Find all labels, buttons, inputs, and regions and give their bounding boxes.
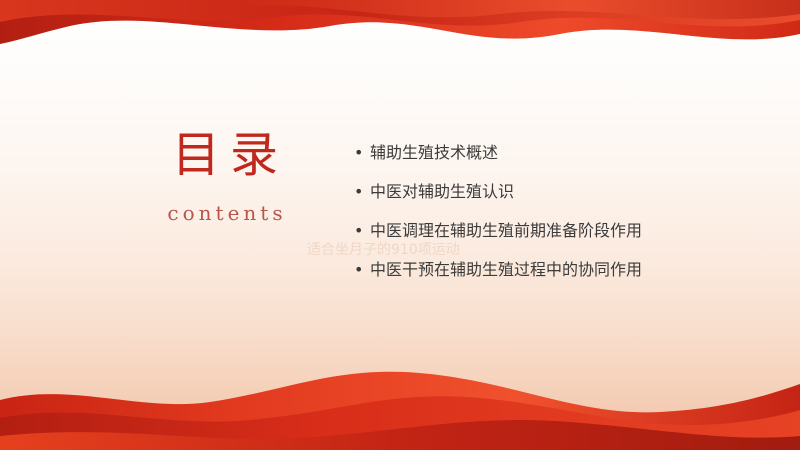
list-item[interactable]: • 中医对辅助生殖认识	[352, 179, 732, 205]
presentation-slide: 目录 contents 适合坐月子的910项运动 • 辅助生殖技术概述 • 中医…	[0, 0, 800, 450]
bullet-icon: •	[354, 257, 363, 283]
list-item-label: 中医对辅助生殖认识	[370, 182, 514, 201]
page-title: 目录	[120, 128, 330, 183]
list-item-label: 中医干预在辅助生殖过程中的协同作用	[370, 260, 642, 279]
list-item[interactable]: • 辅助生殖技术概述	[352, 140, 732, 166]
list-item-label: 中医调理在辅助生殖前期准备阶段作用	[370, 221, 642, 240]
page-subtitle: contents	[120, 201, 330, 225]
bullet-icon: •	[354, 179, 363, 205]
table-of-contents-list: • 辅助生殖技术概述 • 中医对辅助生殖认识 • 中医调理在辅助生殖前期准备阶段…	[352, 140, 732, 296]
slide-title-block: 目录 contents	[120, 128, 330, 225]
list-item-label: 辅助生殖技术概述	[370, 143, 498, 162]
slide-content: 目录 contents 适合坐月子的910项运动 • 辅助生殖技术概述 • 中医…	[0, 0, 800, 450]
list-item[interactable]: • 中医调理在辅助生殖前期准备阶段作用	[352, 218, 732, 244]
bullet-icon: •	[354, 140, 363, 166]
bullet-icon: •	[354, 218, 363, 244]
list-item[interactable]: • 中医干预在辅助生殖过程中的协同作用	[352, 257, 732, 283]
